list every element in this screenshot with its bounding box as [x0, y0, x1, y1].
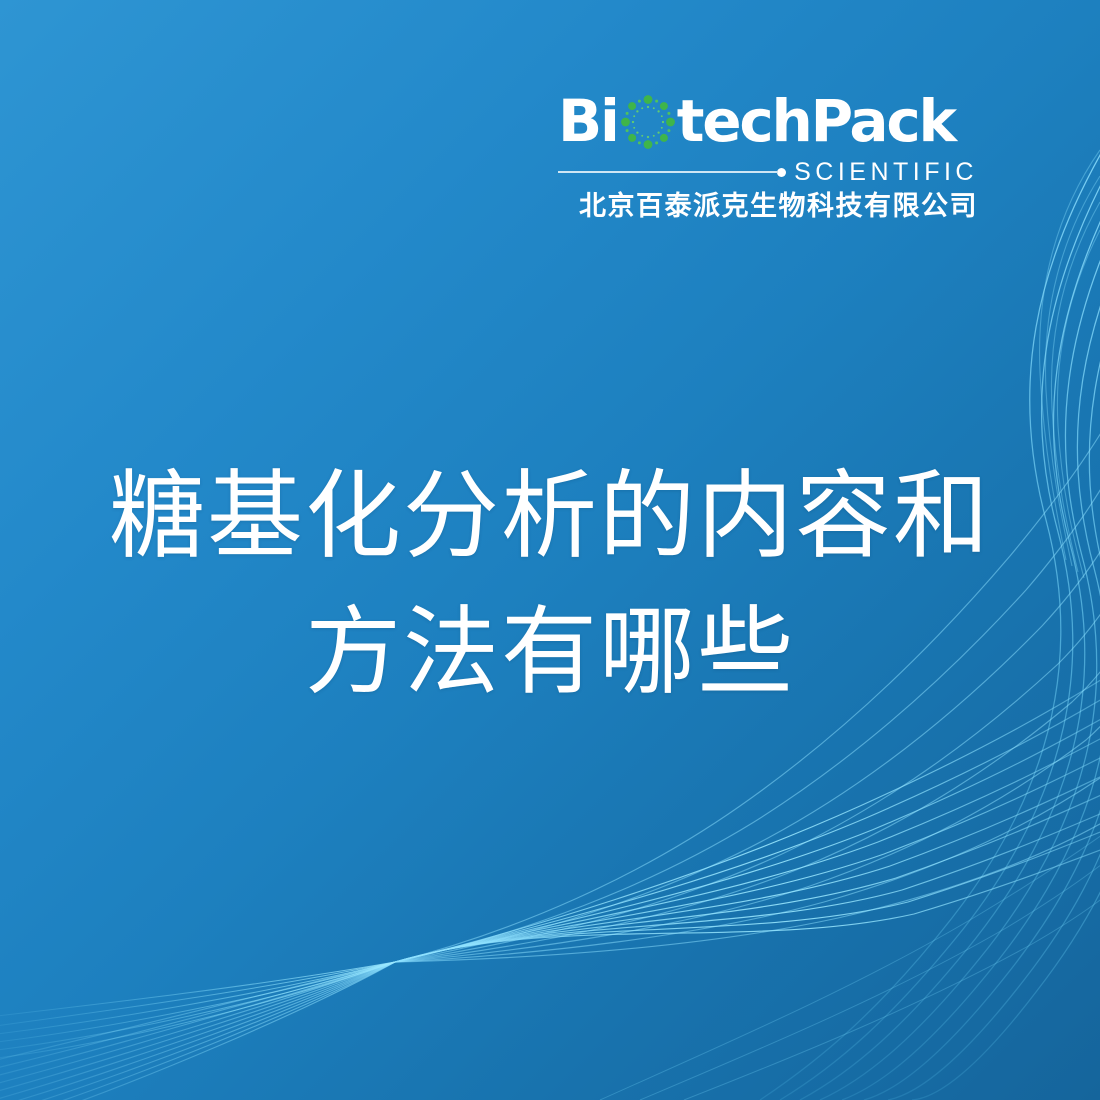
- poster-canvas: Bi: [0, 0, 1100, 1100]
- logo-tagline-row: SCIENTIFIC: [558, 161, 978, 183]
- molecule-ring-icon: [620, 94, 676, 150]
- tagline-dot-icon: [777, 168, 786, 177]
- brand-logo: Bi: [558, 88, 978, 222]
- logo-wordmark: Bi: [558, 88, 978, 154]
- logo-tagline: SCIENTIFIC: [794, 160, 978, 185]
- wave-group-lower-left: [0, 962, 395, 1060]
- tagline-rule: [558, 171, 778, 173]
- logo-wordmark-part1: Bi: [558, 92, 618, 150]
- wave-group-bottom-fan: [0, 668, 1100, 1100]
- wave-group-bottom-right-secondary: [600, 822, 1100, 1100]
- page-title-line-2: 方法有哪些: [0, 584, 1100, 720]
- logo-wordmark-part2: techPack: [677, 92, 955, 150]
- page-title: 糖基化分析的内容和 方法有哪些: [0, 448, 1100, 721]
- company-name-cn: 北京百泰派克生物科技有限公司: [558, 192, 978, 222]
- page-title-line-1: 糖基化分析的内容和: [0, 448, 1100, 584]
